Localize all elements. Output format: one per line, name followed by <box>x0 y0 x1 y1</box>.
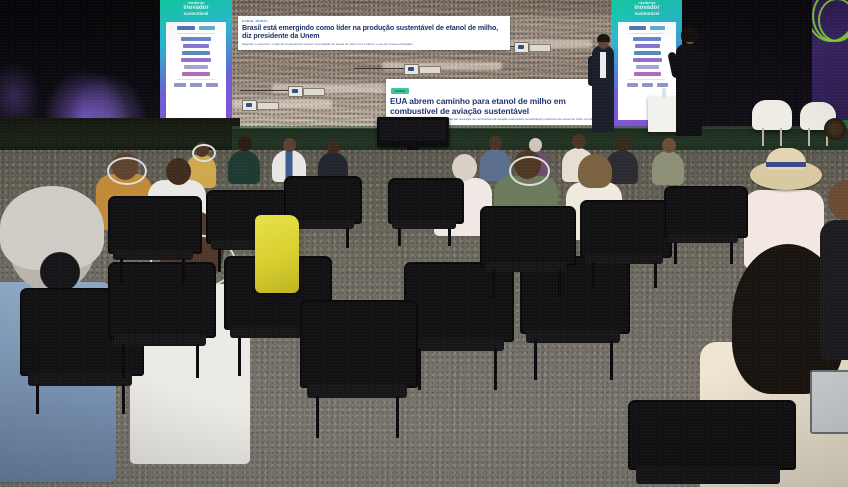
logo-row <box>169 65 223 69</box>
harvester-rig <box>404 64 450 73</box>
logo-row <box>621 65 673 69</box>
water-bottle <box>662 88 666 98</box>
audience-chair <box>300 300 420 430</box>
presenter-female-hair <box>681 26 699 42</box>
white-lounge-chair <box>752 100 792 130</box>
pa-speaker-stand <box>795 58 798 120</box>
logo-row <box>169 51 223 55</box>
logo-row <box>621 37 673 41</box>
logo-row <box>621 58 673 62</box>
logo-row <box>169 58 223 62</box>
harvester-rig <box>242 100 282 109</box>
logo-row <box>621 51 673 55</box>
logo-row <box>621 44 673 48</box>
brand-line-3: sustentável <box>612 12 682 17</box>
logo-row <box>621 72 673 76</box>
audience-chair <box>480 206 576 292</box>
presenter-female-body <box>676 44 702 136</box>
banner-brand-text: moderno inovador sustentável <box>612 0 682 22</box>
news-card-brasil: CANAL RURAL Brasil está emergindo como l… <box>238 16 510 50</box>
potted-plant <box>824 118 846 140</box>
banner-brand-text: moderno inovador sustentável <box>160 0 232 22</box>
audience-chair <box>108 196 202 280</box>
news-headline: Brasil está emergindo como líder na prod… <box>242 24 505 41</box>
pa-speaker <box>787 22 806 58</box>
news-headline: EUA abrem caminho para etanol de milho e… <box>390 97 604 116</box>
logo-row <box>169 72 223 76</box>
harvester-rig <box>288 86 334 95</box>
monitor-screen <box>380 120 446 141</box>
logo-divider <box>177 33 215 34</box>
presenter-male-shirt <box>600 52 606 78</box>
logo-divider <box>177 79 215 80</box>
news-kicker: CANAL RURAL <box>242 19 510 23</box>
logo-row <box>621 26 673 30</box>
news-standfirst: Segundo o executivo, o país tem potencia… <box>242 43 505 47</box>
sponsor-logo-panel <box>166 22 226 122</box>
straw-hat <box>750 160 822 190</box>
logo-divider <box>629 33 665 34</box>
logo-row <box>621 83 673 87</box>
logo-divider <box>629 79 665 80</box>
audience-chair <box>628 400 798 487</box>
logo-row <box>169 26 223 30</box>
audience-chair <box>580 200 672 284</box>
yellow-tote-bag <box>255 215 299 293</box>
logo-row <box>169 83 223 87</box>
logo-row <box>169 37 223 41</box>
audience-chair <box>388 178 464 244</box>
tablet-device <box>810 370 848 434</box>
sponsor-banner-left: moderno inovador sustentável <box>160 0 232 132</box>
confidence-monitor <box>377 117 449 147</box>
presenter-male-hair <box>597 34 610 42</box>
logo-row <box>169 44 223 48</box>
brand-line-3: sustentável <box>160 12 232 17</box>
projection-screen: CANAL RURAL Brasil está emergindo como l… <box>232 0 612 128</box>
conference-photo: CANAL RURAL Brasil está emergindo como l… <box>0 0 848 487</box>
audience-chair <box>664 186 748 262</box>
harvester-rig <box>514 42 560 51</box>
news-tag: AGRO <box>391 88 409 94</box>
